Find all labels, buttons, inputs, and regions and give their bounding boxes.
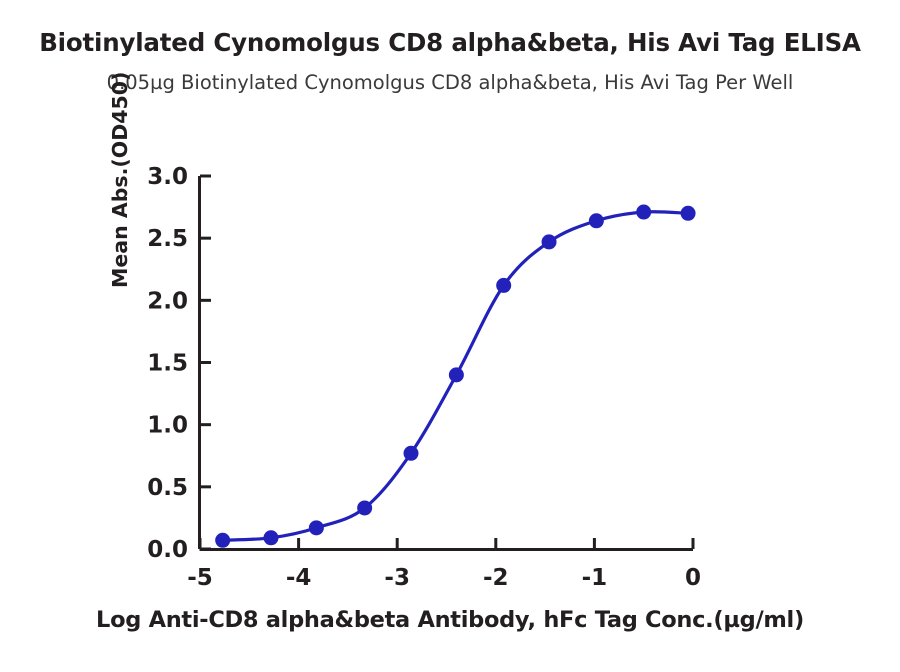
y-tick-label: 0.0 — [147, 537, 188, 563]
data-point — [681, 206, 696, 221]
x-tick-label: -4 — [286, 565, 312, 591]
series-data-points — [215, 205, 695, 548]
y-tick-label: 2.5 — [147, 226, 188, 252]
data-point — [496, 278, 511, 293]
x-tick-label: -3 — [384, 565, 410, 591]
x-tick-label: -1 — [582, 565, 608, 591]
data-point — [309, 520, 324, 535]
data-point — [263, 530, 278, 545]
y-axis-tick-labels: 0.00.51.01.52.02.53.0 — [147, 164, 188, 563]
y-tick-label: 1.5 — [147, 351, 188, 377]
data-point — [215, 533, 230, 548]
y-tick-label: 2.0 — [147, 288, 188, 314]
data-point — [357, 500, 372, 515]
data-point — [636, 205, 651, 220]
x-tick-label: 0 — [685, 565, 701, 591]
x-axis-tick-labels: -5-4-3-2-10 — [187, 565, 701, 591]
data-point — [404, 446, 419, 461]
chart-page: Biotinylated Cynomolgus CD8 alpha&beta, … — [0, 0, 900, 672]
x-tick-label: -2 — [483, 565, 509, 591]
x-tick-label: -5 — [187, 565, 213, 591]
x-axis-title: Log Anti-CD8 alpha&beta Antibody, hFc Ta… — [0, 607, 900, 633]
data-point — [542, 234, 557, 249]
y-tick-label: 3.0 — [147, 164, 188, 190]
elisa-line-chart: 0.00.51.01.52.02.53.0 -5-4-3-2-10 — [0, 0, 900, 672]
y-tick-label: 0.5 — [147, 475, 188, 501]
y-tick-label: 1.0 — [147, 413, 188, 439]
y-axis-title: Mean Abs.(OD450) — [108, 248, 132, 288]
y-axis-ticks — [200, 176, 211, 549]
data-point — [449, 367, 464, 382]
data-point — [589, 213, 604, 228]
